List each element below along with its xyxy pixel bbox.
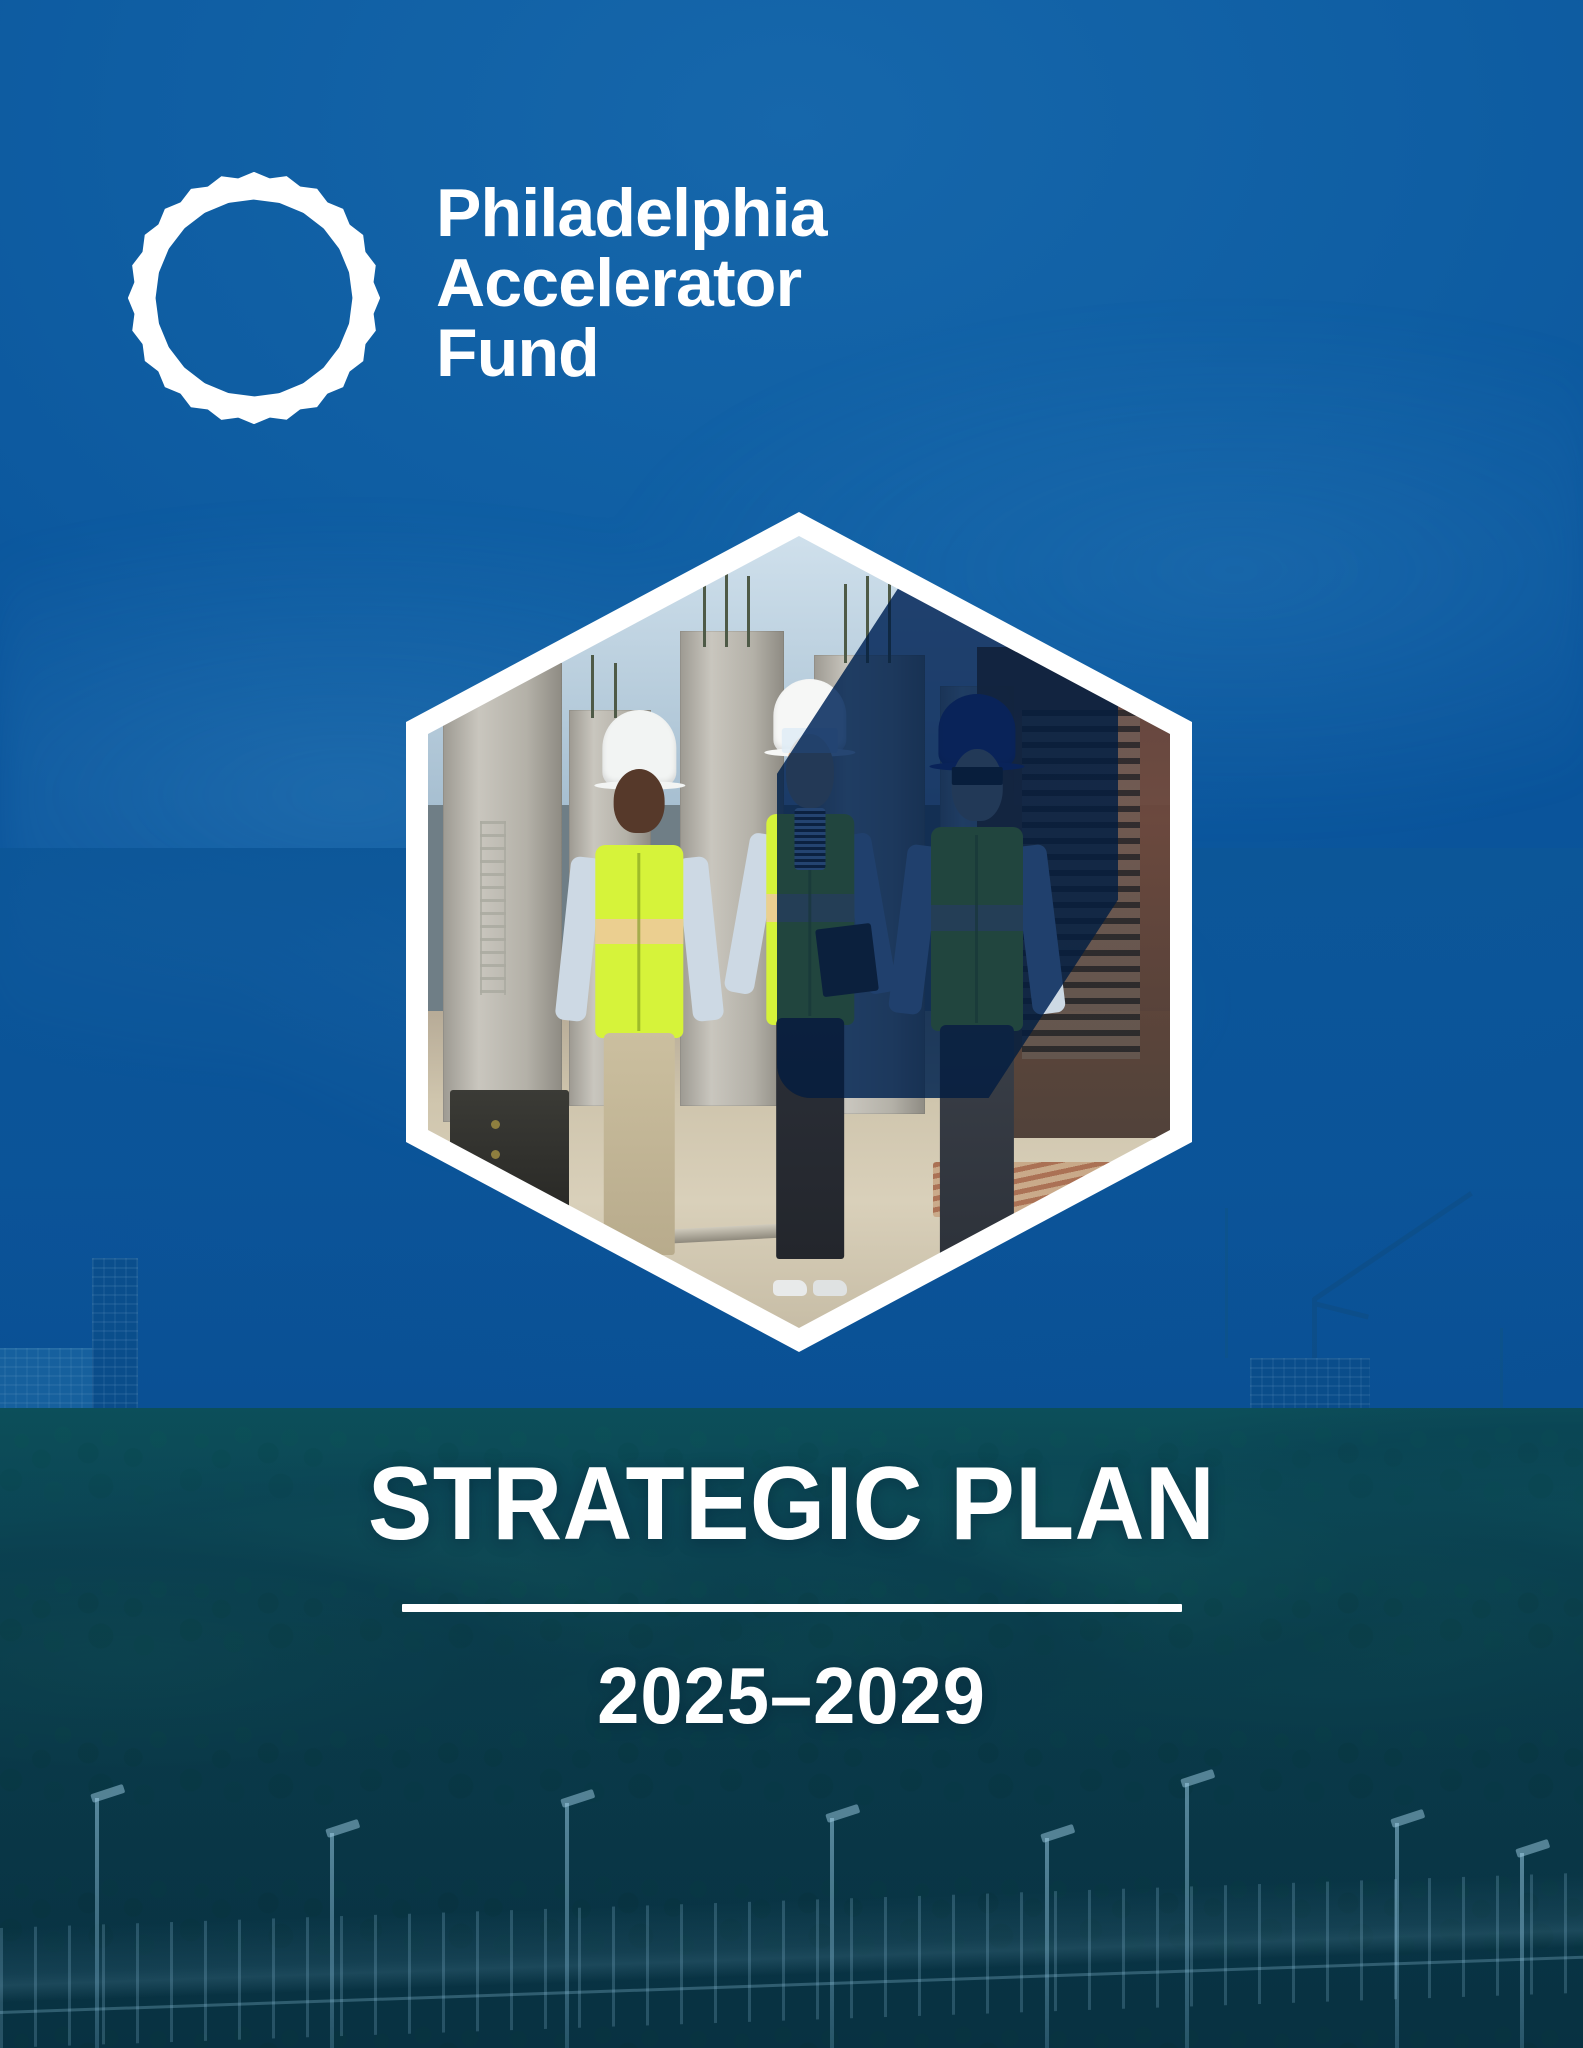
page-title: STRATEGIC PLAN (55, 1452, 1527, 1556)
cover-page: Philadelphia Accelerator Fund (0, 0, 1583, 2048)
title-divider (402, 1604, 1182, 1612)
year-range: 2025–2029 (40, 1656, 1544, 1736)
wordmark-line-2: Accelerator (436, 248, 827, 318)
worker-head (614, 769, 665, 833)
cover-title-block: STRATEGIC PLAN 2025–2029 (0, 1452, 1583, 1736)
photo-ladder (480, 821, 506, 995)
wordmark-line-3: Fund (436, 318, 827, 388)
organization-wordmark: Philadelphia Accelerator Fund (436, 178, 827, 388)
safety-vest (596, 845, 683, 1038)
wordmark-line-1: Philadelphia (436, 178, 827, 248)
worker-left (569, 710, 710, 1296)
hero-photo-hexagon (406, 512, 1192, 1352)
octagon-mandala-logo-icon (128, 172, 380, 424)
organization-logo: Philadelphia Accelerator Fund (128, 172, 827, 424)
